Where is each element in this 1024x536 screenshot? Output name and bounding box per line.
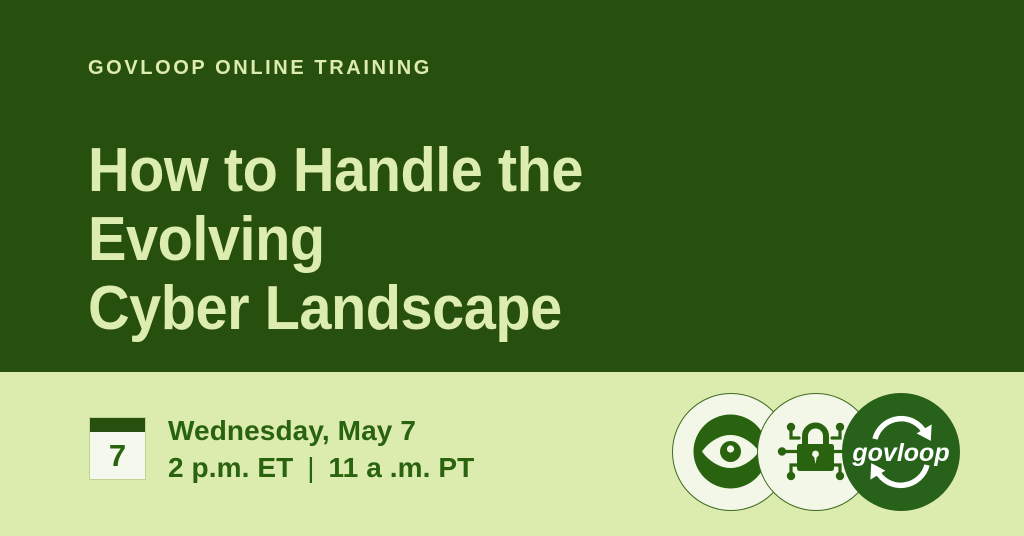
event-time-et: 2 p.m. ET bbox=[168, 452, 293, 483]
page-title: How to Handle the Evolving Cyber Landsca… bbox=[88, 136, 832, 343]
calendar-day-number: 7 bbox=[90, 432, 145, 480]
title-line-1: How to Handle the Evolving bbox=[88, 136, 583, 274]
govloop-logo-circle: govloop bbox=[842, 393, 960, 511]
event-datetime: Wednesday, May 7 2 p.m. ET | 11 a .m. PT bbox=[168, 413, 474, 487]
govloop-webinar-banner: GOVLOOP ONLINE TRAINING How to Handle th… bbox=[0, 0, 1024, 536]
event-date: Wednesday, May 7 bbox=[168, 413, 474, 449]
event-time: 2 p.m. ET | 11 a .m. PT bbox=[168, 449, 474, 487]
govloop-logo: govloop bbox=[842, 393, 960, 511]
time-separator: | bbox=[301, 449, 320, 487]
govloop-wordmark: govloop bbox=[851, 439, 949, 467]
icon-cluster: govloop bbox=[672, 393, 960, 511]
title-line-2: Cyber Landscape bbox=[88, 274, 832, 343]
hero-panel: GOVLOOP ONLINE TRAINING How to Handle th… bbox=[0, 0, 1024, 372]
calendar-icon: 7 bbox=[89, 417, 146, 480]
calendar-header-bar bbox=[90, 418, 145, 432]
eyebrow-label: GOVLOOP ONLINE TRAINING bbox=[88, 57, 432, 80]
event-time-pt: 11 a .m. PT bbox=[329, 452, 475, 483]
